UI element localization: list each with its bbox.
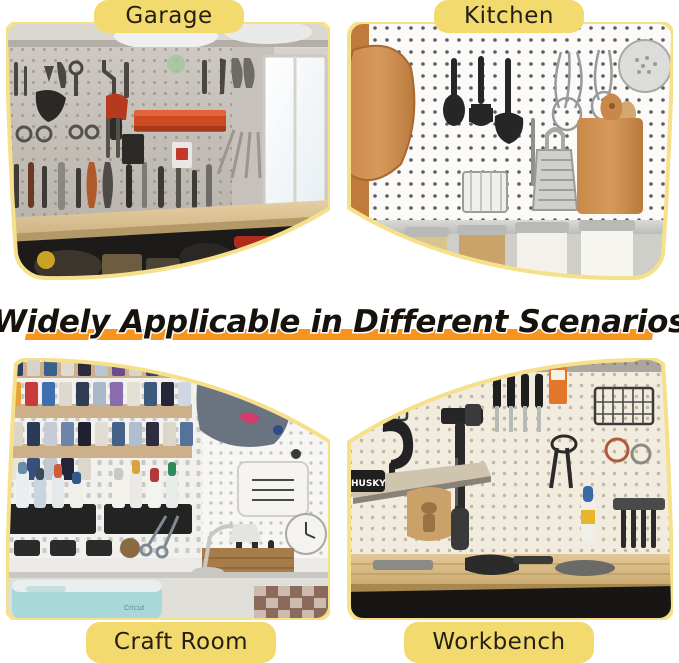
banner-text: Widely Applicable in Different Scenarios bbox=[0, 304, 679, 340]
label-craft-room: Craft Room bbox=[86, 622, 276, 663]
svg-text:HUSKY: HUSKY bbox=[351, 479, 386, 489]
label-garage-text: Garage bbox=[125, 5, 212, 28]
workbench-photo: HUSKY bbox=[345, 358, 673, 620]
panel-kitchen bbox=[345, 22, 673, 280]
banner: Widely Applicable in Different Scenarios bbox=[0, 296, 679, 348]
panel-workbench: HUSKY bbox=[345, 358, 673, 620]
infographic-canvas: Cricut bbox=[0, 0, 679, 663]
svg-text:Cricut: Cricut bbox=[124, 604, 145, 612]
label-craft-room-text: Craft Room bbox=[114, 631, 248, 654]
label-kitchen-text: Kitchen bbox=[464, 5, 554, 28]
label-workbench: Workbench bbox=[404, 622, 594, 663]
label-workbench-text: Workbench bbox=[432, 631, 565, 654]
panel-craft-room: Cricut bbox=[6, 358, 330, 620]
label-kitchen: Kitchen bbox=[434, 0, 584, 33]
label-garage: Garage bbox=[94, 0, 244, 33]
garage-photo bbox=[6, 22, 330, 280]
kitchen-photo bbox=[345, 22, 673, 280]
panel-garage bbox=[6, 22, 330, 280]
craft-room-photo: Cricut bbox=[6, 358, 330, 620]
